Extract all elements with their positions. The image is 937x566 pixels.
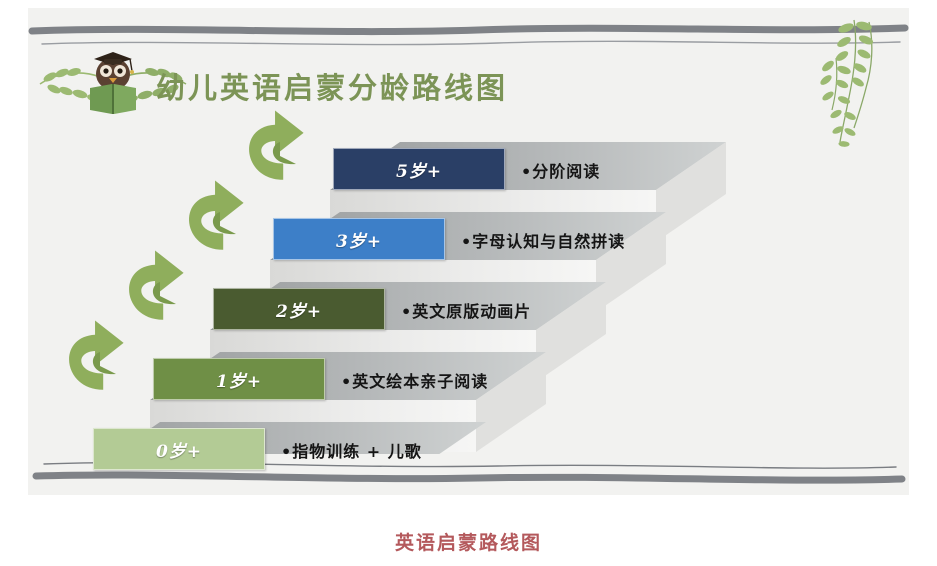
step-box-2[interactable]: 1岁+ xyxy=(153,358,325,400)
page-title: 幼儿英语启蒙分龄路线图 xyxy=(156,65,508,107)
step-box-3[interactable]: 2岁+ xyxy=(213,288,385,330)
step-age-3: 2岁+ xyxy=(276,297,322,322)
step-age-5: 5岁+ xyxy=(396,157,442,182)
step-box-4[interactable]: 3岁+ xyxy=(273,218,445,260)
slide-canvas: 幼儿英语启蒙分龄路线图 xyxy=(28,8,909,495)
step-label-1: •指物训练 + 儿歌 xyxy=(281,438,422,462)
step-label-4: •字母认知与自然拼读 xyxy=(461,228,625,252)
step-label-3: •英文原版动画片 xyxy=(401,298,531,322)
step-age-2: 1岁+ xyxy=(216,367,262,392)
step-box-1[interactable]: 0岁+ xyxy=(93,428,265,470)
step-age-4: 3岁+ xyxy=(336,227,382,252)
step-label-5: •分阶阅读 xyxy=(521,158,600,182)
step-label-2: •英文绘本亲子阅读 xyxy=(341,368,488,392)
caption: 英语启蒙路线图 xyxy=(0,528,937,555)
step-box-5[interactable]: 5岁+ xyxy=(333,148,505,190)
roadmap-staircase: 5岁+ •分阶阅读 3岁+ •字母认知与自然拼读 2岁+ •英文原版动画片 1岁… xyxy=(28,104,909,454)
step-age-1: 0岁+ xyxy=(156,437,202,462)
